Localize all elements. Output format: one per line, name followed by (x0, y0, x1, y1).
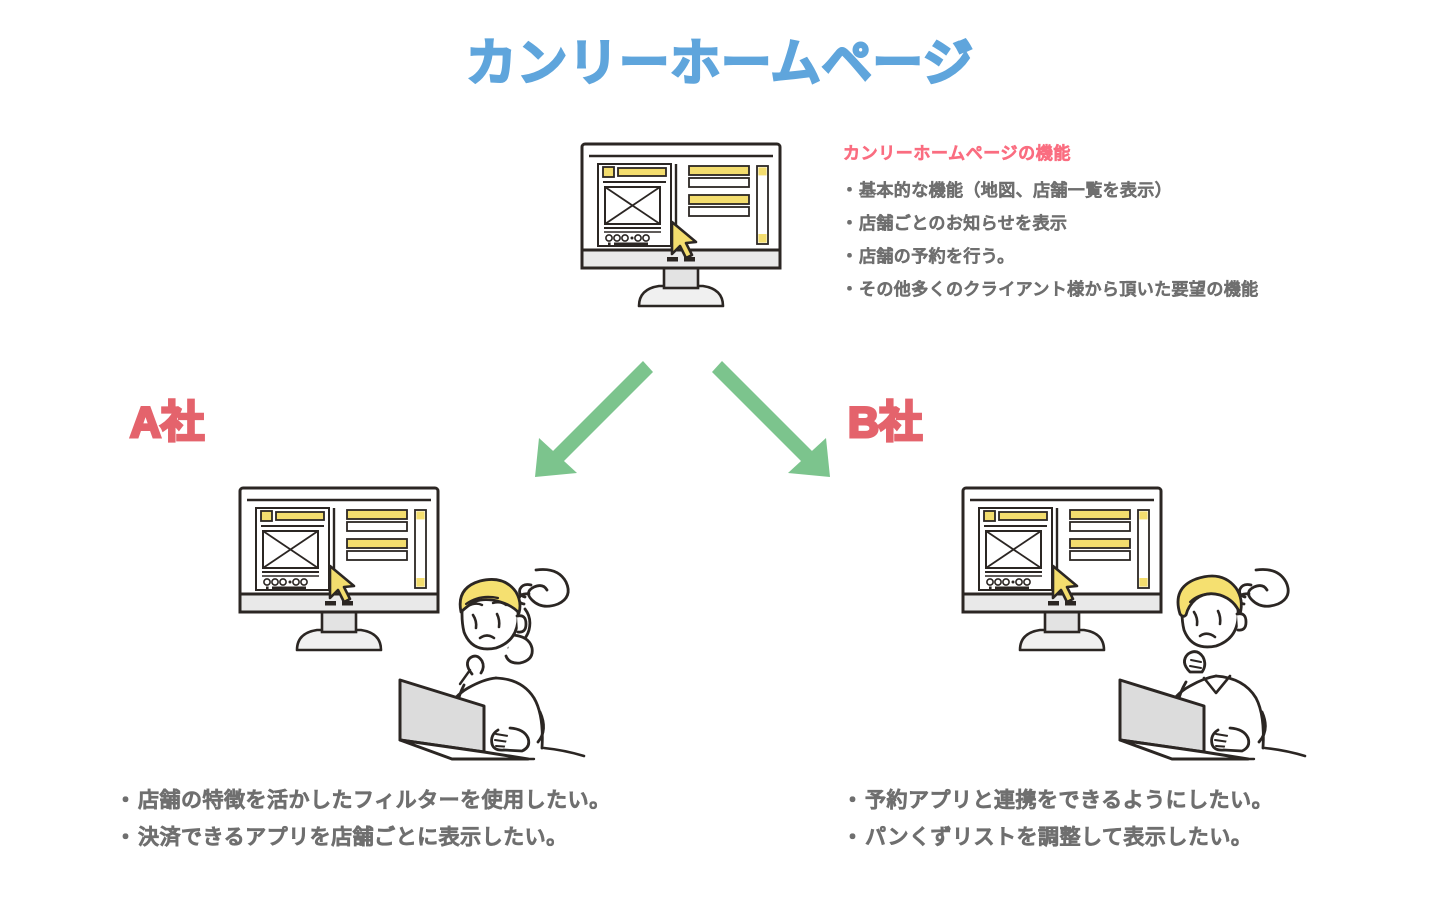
desktop-monitor-wireframe-icon (582, 144, 780, 306)
diagram-canvas: カンリーホームページ (0, 0, 1440, 906)
requests-block-a: 店舗の特徴を活かしたフィルターを使用したい。 決済できるアプリを店舗ごとに表示し… (118, 782, 758, 856)
feature-panel: カンリーホームページの機能 基本的な機能（地図、店舗一覧を表示） 店舗ごとのお知… (843, 139, 1403, 306)
person-illustration-b (1112, 552, 1312, 762)
monitor-illustration-top (576, 138, 786, 313)
requests-list-b: 予約アプリと連携をできるようにしたい。 パンくずリストを調整して表示したい。 (845, 782, 1440, 856)
feature-item: 店舗ごとのお知らせを表示 (843, 207, 1403, 240)
feature-item: その他多くのクライアント様から頂いた要望の機能 (843, 273, 1403, 306)
confusion-swirl-icon (1239, 570, 1288, 607)
arrow-down-right-icon (712, 361, 830, 477)
branch-arrow-right (710, 355, 840, 480)
feature-item: 店舗の予約を行う。 (843, 240, 1403, 273)
confusion-swirl-icon (519, 570, 568, 607)
feature-list: 基本的な機能（地図、店舗一覧を表示） 店舗ごとのお知らせを表示 店舗の予約を行う… (843, 174, 1403, 306)
requests-block-b: 予約アプリと連携をできるようにしたい。 パンくずリストを調整して表示したい。 (845, 782, 1440, 856)
request-item: 店舗の特徴を活かしたフィルターを使用したい。 (118, 782, 758, 819)
person-illustration-a (392, 552, 592, 762)
company-label-a: A社 (130, 402, 204, 445)
page-title: カンリーホームページ (0, 38, 1440, 88)
company-label-b: B社 (848, 402, 922, 445)
request-item: 予約アプリと連携をできるようにしたい。 (845, 782, 1440, 819)
requests-list-a: 店舗の特徴を活かしたフィルターを使用したい。 決済できるアプリを店舗ごとに表示し… (118, 782, 758, 856)
feature-panel-heading: カンリーホームページの機能 (843, 139, 1403, 164)
arrow-down-left-icon (535, 361, 653, 477)
request-item: 決済できるアプリを店舗ごとに表示したい。 (118, 819, 758, 856)
request-item: パンくずリストを調整して表示したい。 (845, 819, 1440, 856)
feature-item: 基本的な機能（地図、店舗一覧を表示） (843, 174, 1403, 207)
branch-arrow-left (525, 355, 655, 480)
